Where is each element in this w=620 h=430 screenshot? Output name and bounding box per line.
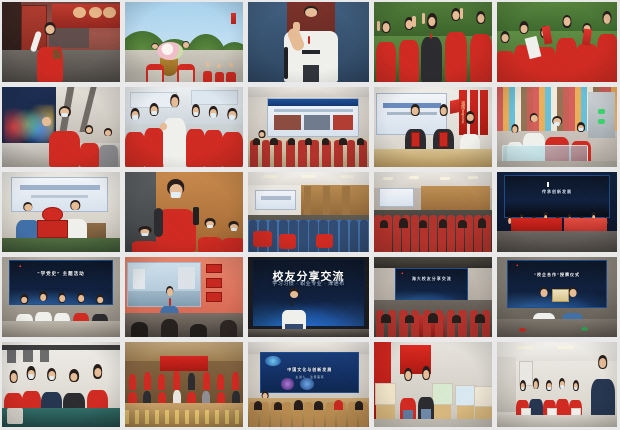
photo-r5c4[interactable] — [374, 342, 492, 427]
photo-cell[interactable] — [123, 85, 246, 170]
photo-cell[interactable]: ● 传承创新发展 — [495, 170, 620, 255]
alumni-sharing-subtitle: 学习习惯 · 职业专业 · 津通布 — [253, 280, 365, 287]
photo-collage: 祖国!король; — [0, 0, 620, 430]
photo-r3c2[interactable] — [125, 172, 243, 252]
photo-r2c1[interactable] — [2, 87, 120, 167]
photo-r3c3[interactable] — [248, 172, 369, 252]
photo-cell[interactable] — [123, 170, 246, 255]
photo-r4c5[interactable]: ▲ “校企合作”授牌仪式 — [497, 257, 617, 337]
photo-cell[interactable]: 祖国!король; — [372, 85, 495, 170]
photo-cell[interactable]: ▲ 海大校友分享交流 — [372, 255, 495, 340]
photo-cell[interactable] — [0, 170, 123, 255]
photo-r4c3[interactable]: 校友分享交流 学习习惯 · 职业专业 · 津通布 — [248, 257, 369, 337]
photo-r2c2[interactable] — [125, 87, 243, 167]
photo-cell[interactable] — [0, 85, 123, 170]
photo-cell[interactable] — [372, 170, 495, 255]
photo-cell[interactable] — [0, 0, 123, 85]
photo-cell[interactable] — [123, 255, 246, 340]
photo-r4c2[interactable] — [125, 257, 243, 337]
photo-cell[interactable]: ▲ “校企合作”授牌仪式 — [495, 255, 620, 340]
photo-r1c5[interactable] — [497, 2, 617, 82]
photo-r5c2[interactable] — [125, 342, 243, 427]
photo-r4c1[interactable]: ▲ “学党史” 主题活动 — [2, 257, 120, 337]
photo-cell[interactable] — [246, 85, 372, 170]
photo-r5c5[interactable] — [497, 342, 617, 427]
photo-cell[interactable] — [123, 0, 246, 85]
photo-r2c3[interactable] — [248, 87, 369, 167]
photo-cell[interactable] — [123, 340, 246, 430]
photo-r2c4[interactable]: 祖国!король; — [374, 87, 492, 167]
photo-cell[interactable]: 中国文化与创新发展 主讲人 · 注意事项 — [246, 340, 372, 430]
photo-r3c1[interactable] — [2, 172, 120, 252]
photo-r5c3[interactable]: 中国文化与创新发展 主讲人 · 注意事项 — [248, 342, 369, 427]
photo-r1c1[interactable] — [2, 2, 120, 82]
photo-r1c2[interactable] — [125, 2, 243, 82]
photo-cell[interactable] — [495, 340, 620, 430]
photo-r1c4[interactable] — [374, 2, 492, 82]
photo-cell[interactable] — [0, 340, 123, 430]
photo-r3c5[interactable]: ● 传承创新发展 — [497, 172, 617, 252]
photo-cell[interactable]: ▲ “学党史” 主题活动 — [0, 255, 123, 340]
photo-r2c5[interactable] — [497, 87, 617, 167]
collage-grid: 祖国!король; — [0, 0, 620, 430]
photo-r1c3[interactable] — [248, 2, 369, 82]
photo-cell[interactable] — [495, 0, 620, 85]
photo-cell[interactable]: 校友分享交流 学习习惯 · 职业专业 · 津通布 — [246, 255, 372, 340]
photo-r4c4[interactable]: ▲ 海大校友分享交流 — [374, 257, 492, 337]
photo-r3c4[interactable] — [374, 172, 492, 252]
photo-cell[interactable] — [495, 85, 620, 170]
photo-cell[interactable] — [372, 0, 495, 85]
photo-cell[interactable] — [246, 170, 372, 255]
photo-cell[interactable] — [372, 340, 495, 430]
photo-r5c1[interactable] — [2, 342, 120, 427]
photo-cell[interactable] — [246, 0, 372, 85]
